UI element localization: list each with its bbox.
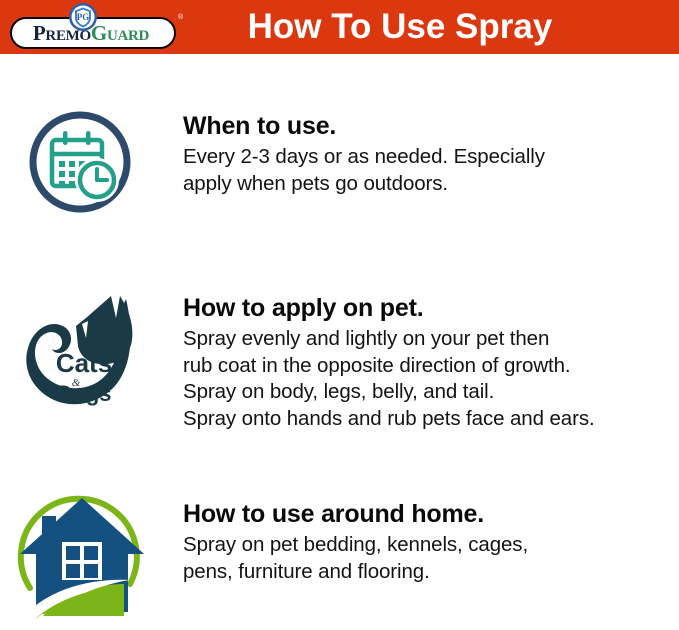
house-icon: [12, 480, 152, 620]
cats-label: Cats: [56, 348, 112, 378]
dogs-label: Dogs: [57, 381, 112, 406]
logo-wordmark: PremoGuard: [6, 17, 176, 49]
section-how-to-use-around-home-body: How to use around home. Spray on pet bed…: [183, 500, 675, 585]
section-heading: How to apply on pet.: [183, 294, 675, 322]
text-line: Spray on pet bedding, kennels, cages,: [183, 532, 675, 559]
brand-logo: PG PremoGuard ®: [6, 2, 184, 52]
text-line: Spray on body, legs, belly, and tail.: [183, 379, 675, 406]
calendar-clock-icon: [14, 96, 146, 228]
text-line: Spray evenly and lightly on your pet the…: [183, 326, 675, 353]
text-line: rub coat in the opposite direction of gr…: [183, 353, 675, 380]
section-text: Every 2-3 days or as needed. Especially …: [183, 144, 675, 197]
section-heading: When to use.: [183, 112, 675, 140]
section-how-to-apply-on-pet-body: How to apply on pet. Spray evenly and li…: [183, 294, 675, 433]
text-line: apply when pets go outdoors.: [183, 171, 675, 198]
cats-and-dogs-logo-icon: Cats & Dogs: [16, 294, 154, 414]
header-banner: PG PremoGuard ® How To Use Spray: [0, 0, 679, 54]
section-heading: How to use around home.: [183, 500, 675, 528]
section-when-to-use-body: When to use. Every 2-3 days or as needed…: [183, 112, 675, 197]
logo-word-guard: Guard: [91, 23, 149, 44]
text-line: pens, furniture and flooring.: [183, 559, 675, 586]
text-line: Every 2-3 days or as needed. Especially: [183, 144, 675, 171]
page-title: How To Use Spray: [190, 0, 610, 54]
section-text: Spray on pet bedding, kennels, cages, pe…: [183, 532, 675, 585]
trademark-symbol: ®: [178, 14, 183, 21]
text-line: Spray onto hands and rub pets face and e…: [183, 406, 675, 433]
section-text: Spray evenly and lightly on your pet the…: [183, 326, 675, 433]
logo-word-premo: Premo: [33, 23, 91, 44]
